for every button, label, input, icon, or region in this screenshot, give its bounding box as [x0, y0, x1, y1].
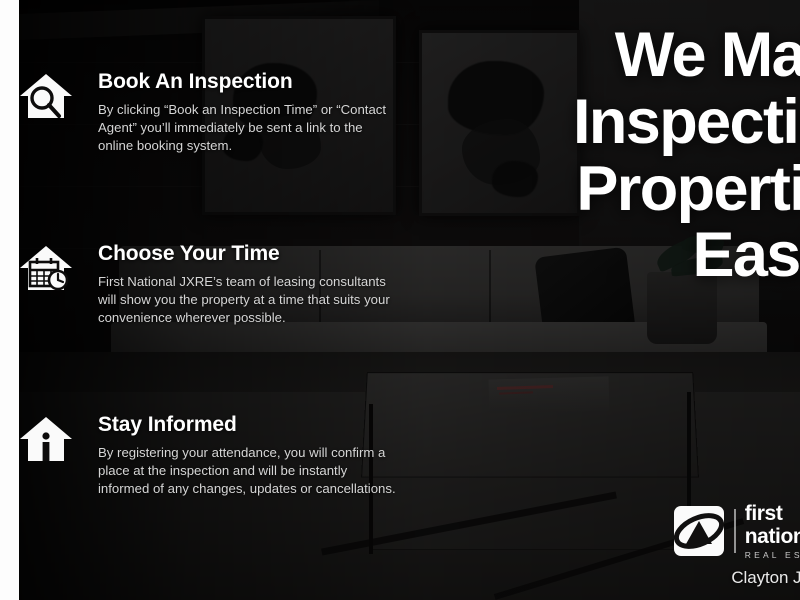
- feature-title: Choose Your Time: [98, 242, 398, 266]
- first-national-logo-icon: [673, 505, 725, 557]
- headline-line-3: Properties: [272, 156, 800, 223]
- logo-wordmark: first national REAL ESTATE: [745, 503, 800, 560]
- feature-choose-your-time: Choose Your Time First National JXRE’s t…: [18, 242, 398, 327]
- feature-text: By clicking “Book an Inspection Time” or…: [98, 101, 398, 155]
- logo-word-national: national: [745, 526, 800, 547]
- left-letterbox-strip: [0, 0, 19, 600]
- poster-canvas: We Make Inspecting Properties Easier Boo…: [0, 0, 800, 600]
- logo-word-first: first: [745, 503, 800, 524]
- feature-stay-informed: Stay Informed By registering your attend…: [18, 413, 398, 498]
- logo-row: first national REAL ESTATE: [673, 503, 800, 560]
- house-calendar-clock-icon: [18, 244, 74, 296]
- logo-divider: [734, 509, 736, 553]
- feature-body: Choose Your Time First National JXRE’s t…: [98, 242, 398, 327]
- feature-text: First National JXRE’s team of leasing co…: [98, 273, 398, 327]
- feature-body: Stay Informed By registering your attend…: [98, 413, 398, 498]
- office-name: Clayton JXRE: [673, 568, 800, 588]
- feature-book-an-inspection: Book An Inspection By clicking “Book an …: [18, 70, 398, 155]
- logo-tagline: REAL ESTATE: [745, 551, 800, 560]
- house-information-icon: [18, 415, 74, 467]
- brand-logo-block: first national REAL ESTATE Clayton JXRE: [673, 503, 800, 589]
- feature-title: Book An Inspection: [98, 70, 398, 94]
- feature-body: Book An Inspection By clicking “Book an …: [98, 70, 398, 155]
- house-magnifier-icon: [18, 72, 74, 124]
- content-overlay: We Make Inspecting Properties Easier Boo…: [0, 0, 800, 600]
- feature-title: Stay Informed: [98, 413, 398, 437]
- feature-text: By registering your attendance, you will…: [98, 444, 398, 498]
